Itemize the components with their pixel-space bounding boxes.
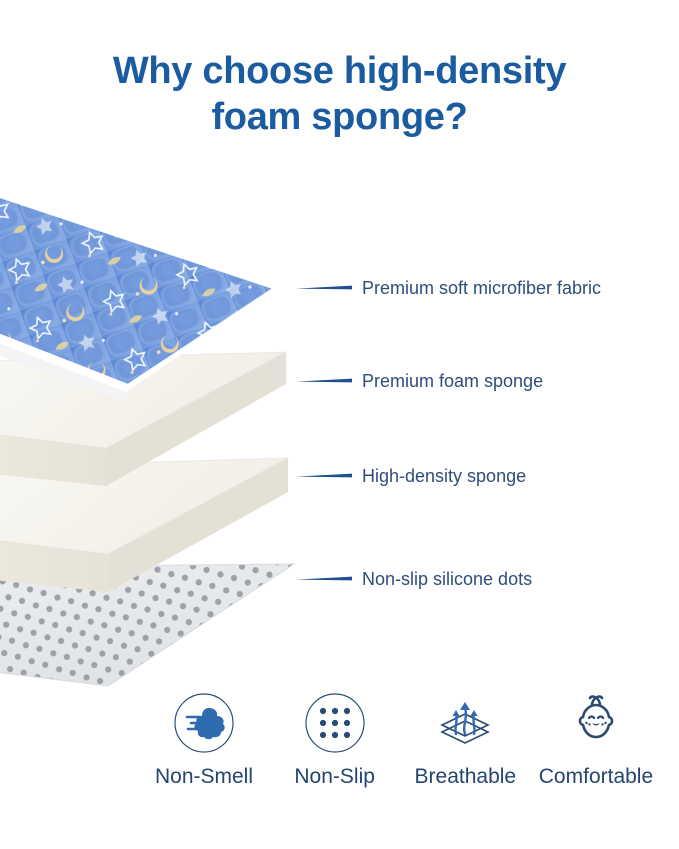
airflow-layers-icon bbox=[434, 692, 496, 754]
page-title-line-2: foam sponge? bbox=[0, 94, 679, 140]
feature-breathable: Breathable bbox=[401, 692, 529, 787]
feature-label: Comfortable bbox=[539, 766, 653, 787]
callout-label: High-density sponge bbox=[362, 467, 526, 485]
feature-non-smell: Non-Smell bbox=[140, 692, 268, 787]
callout-non-slip-silicone-dots: Non-slip silicone dots bbox=[296, 567, 532, 591]
leader-line-icon bbox=[296, 471, 354, 481]
page-title-line-1: Why choose high-density bbox=[0, 48, 679, 94]
callout-microfiber-fabric: Premium soft microfiber fabric bbox=[296, 276, 601, 300]
infographic-page: Why choose high-density foam sponge? bbox=[0, 0, 679, 849]
baby-face-icon bbox=[565, 692, 627, 754]
leader-line-icon bbox=[296, 574, 354, 584]
feature-non-slip: Non-Slip bbox=[271, 692, 399, 787]
callout-label: Premium soft microfiber fabric bbox=[362, 279, 601, 297]
odor-wave-icon bbox=[173, 692, 235, 754]
callout-premium-foam-sponge: Premium foam sponge bbox=[296, 369, 543, 393]
feature-row: Non-Smell Non-Slip bbox=[140, 692, 660, 787]
callout-high-density-sponge: High-density sponge bbox=[296, 464, 526, 488]
feature-label: Non-Slip bbox=[294, 766, 375, 787]
feature-comfortable: Comfortable bbox=[532, 692, 660, 787]
page-title: Why choose high-density foam sponge? bbox=[0, 48, 679, 141]
callout-label: Premium foam sponge bbox=[362, 372, 543, 390]
callout-label: Non-slip silicone dots bbox=[362, 570, 532, 588]
leader-line-icon bbox=[296, 376, 354, 386]
mattress-layers-illustration bbox=[0, 140, 358, 700]
leader-line-icon bbox=[296, 283, 354, 293]
feature-label: Breathable bbox=[415, 766, 517, 787]
dot-grid-icon bbox=[304, 692, 366, 754]
feature-label: Non-Smell bbox=[155, 766, 253, 787]
